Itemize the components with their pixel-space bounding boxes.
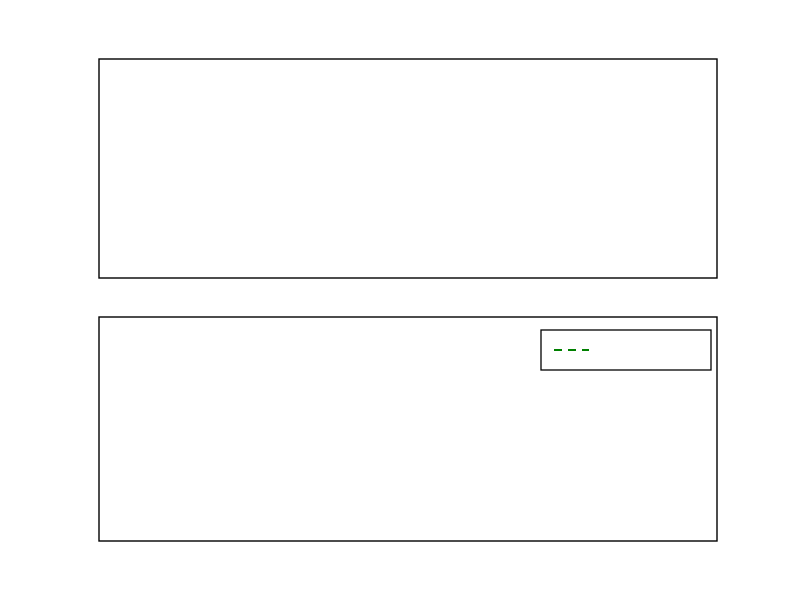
- legend-box: [541, 330, 711, 370]
- figure-canvas: [0, 0, 800, 600]
- legend[interactable]: [541, 330, 711, 370]
- figure-background: [0, 0, 800, 600]
